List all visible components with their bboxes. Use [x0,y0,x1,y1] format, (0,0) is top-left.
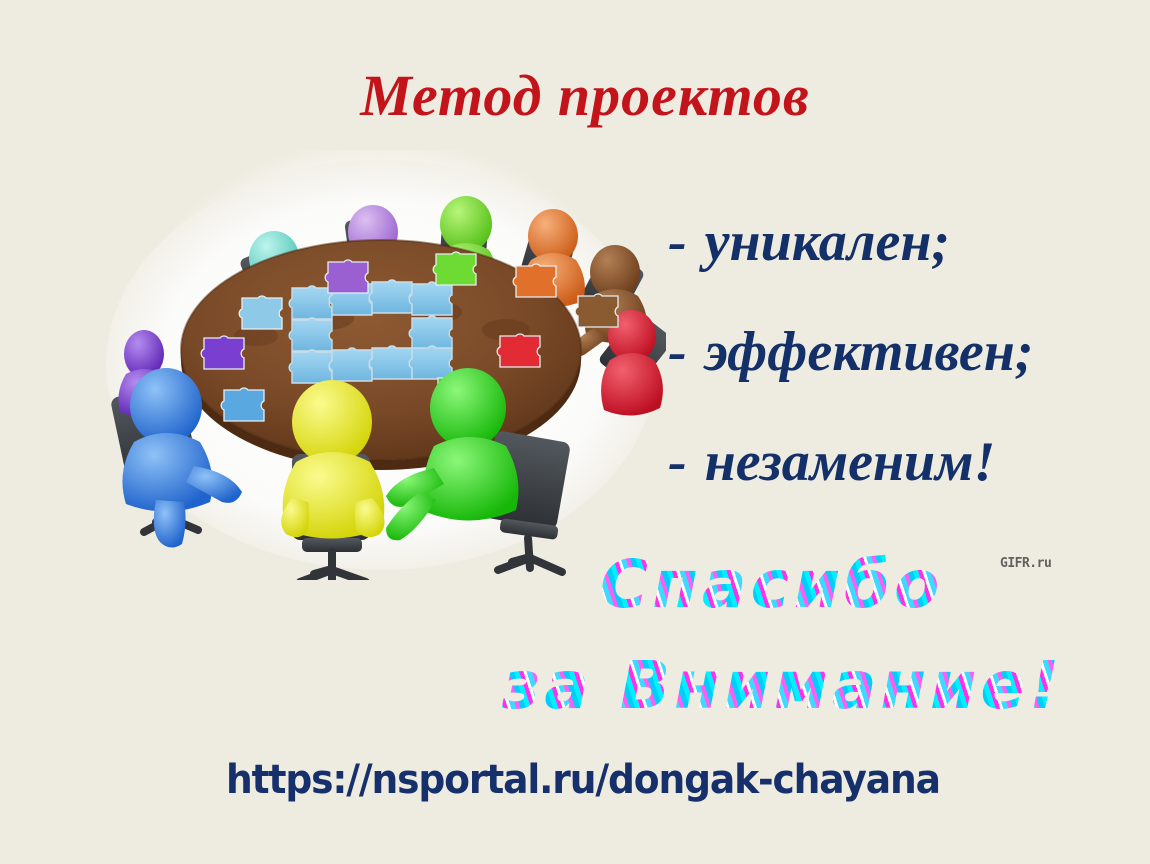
puzzle-piece-violet [201,336,244,369]
puzzle-piece-red [497,334,540,367]
teamwork-illustration [96,150,666,580]
bullet-item-effective: - эффективен; [668,324,1138,434]
bullet-label: эффективен; [705,324,1034,380]
source-url[interactable]: https://nsportal.ru/dongak-chayana [226,757,940,803]
round-table-meeting-image [96,150,666,580]
puzzle-piece-orange [513,264,556,297]
bullet-marker: - [668,434,687,490]
bullet-list: - уникален; - эффективен; - незаменим! [668,214,1138,544]
bullet-label: незаменим! [705,434,996,490]
thank-you-line-2: за Внимание! [502,653,1063,719]
gifr-watermark: GIFR.ru [1000,556,1051,571]
presentation-slide: Метод проектов [0,0,1150,864]
puzzle-piece-blue [221,388,264,421]
slide-title: Метод проектов [0,62,1150,129]
bullet-item-unique: - уникален; [668,214,1138,324]
puzzle-piece-lime [433,252,476,285]
bullet-label: уникален; [705,214,950,270]
thank-you-line-1: Спасибо [600,552,943,618]
bullet-marker: - [668,324,687,380]
puzzle-piece-purple [325,260,368,293]
bullet-item-irreplaceable: - незаменим! [668,434,1138,544]
bullet-marker: - [668,214,687,270]
puzzle-piece-teal [239,296,282,329]
puzzle-piece-brown [575,294,618,327]
